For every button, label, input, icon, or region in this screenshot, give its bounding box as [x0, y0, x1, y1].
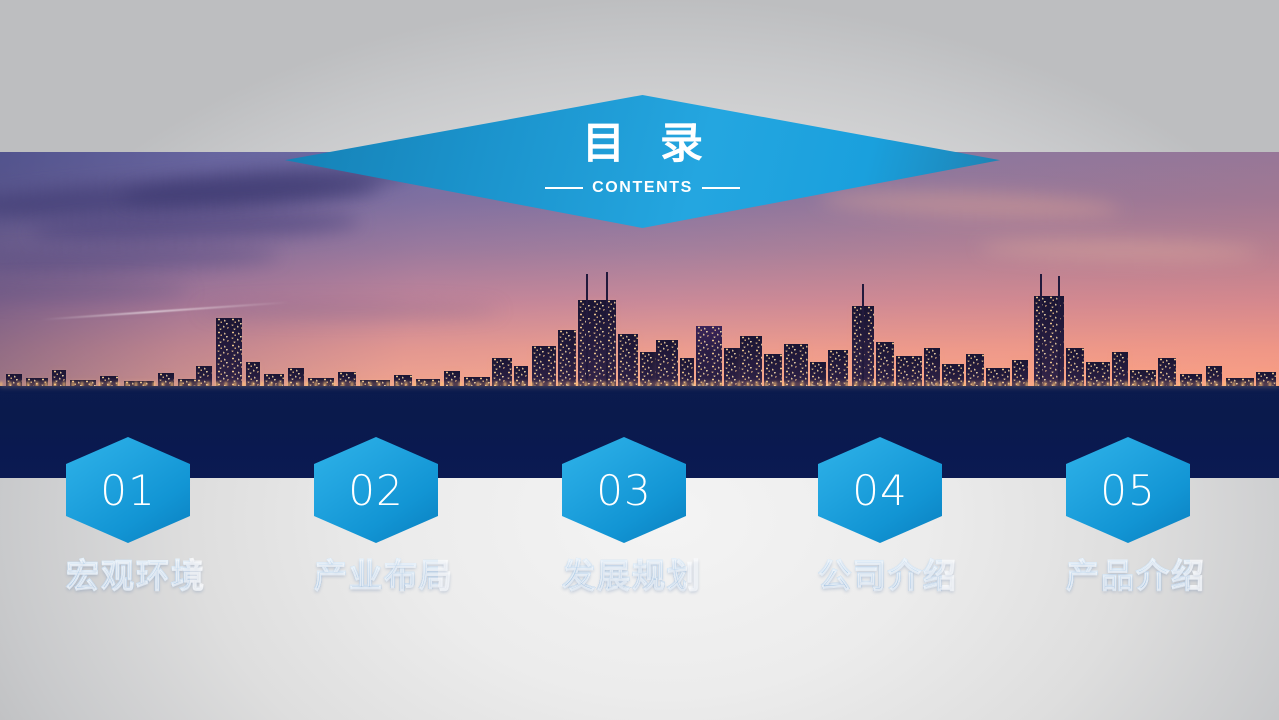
hexagon-badge-02[interactable]: 02: [314, 437, 438, 543]
hexagon-badge-03[interactable]: 03: [562, 437, 686, 543]
slide-canvas: 目 录 CONTENTS 01 宏观环境 02 产业布局 03 发展规划: [0, 0, 1279, 720]
agenda-label-02: 产业布局: [314, 557, 438, 595]
agenda-label-03: 发展规划: [562, 557, 686, 595]
agenda-number-01: 01: [66, 437, 190, 543]
agenda-item-02[interactable]: 02 产业布局: [314, 437, 438, 595]
agenda-list: 01 宏观环境 02 产业布局 03 发展规划 04 公司介绍 05: [0, 0, 1279, 720]
agenda-item-03[interactable]: 03 发展规划: [562, 437, 686, 595]
hexagon-badge-05[interactable]: 05: [1066, 437, 1190, 543]
agenda-number-04: 04: [818, 437, 942, 543]
agenda-number-05: 05: [1066, 437, 1190, 543]
agenda-number-03: 03: [562, 437, 686, 543]
agenda-item-04[interactable]: 04 公司介绍: [818, 437, 942, 595]
agenda-label-01: 宏观环境: [66, 557, 190, 595]
agenda-item-01[interactable]: 01 宏观环境: [66, 437, 190, 595]
agenda-label-05: 产品介绍: [1066, 557, 1190, 595]
hexagon-badge-01[interactable]: 01: [66, 437, 190, 543]
agenda-item-05[interactable]: 05 产品介绍: [1066, 437, 1190, 595]
agenda-label-04: 公司介绍: [818, 557, 942, 595]
hexagon-badge-04[interactable]: 04: [818, 437, 942, 543]
agenda-number-02: 02: [314, 437, 438, 543]
